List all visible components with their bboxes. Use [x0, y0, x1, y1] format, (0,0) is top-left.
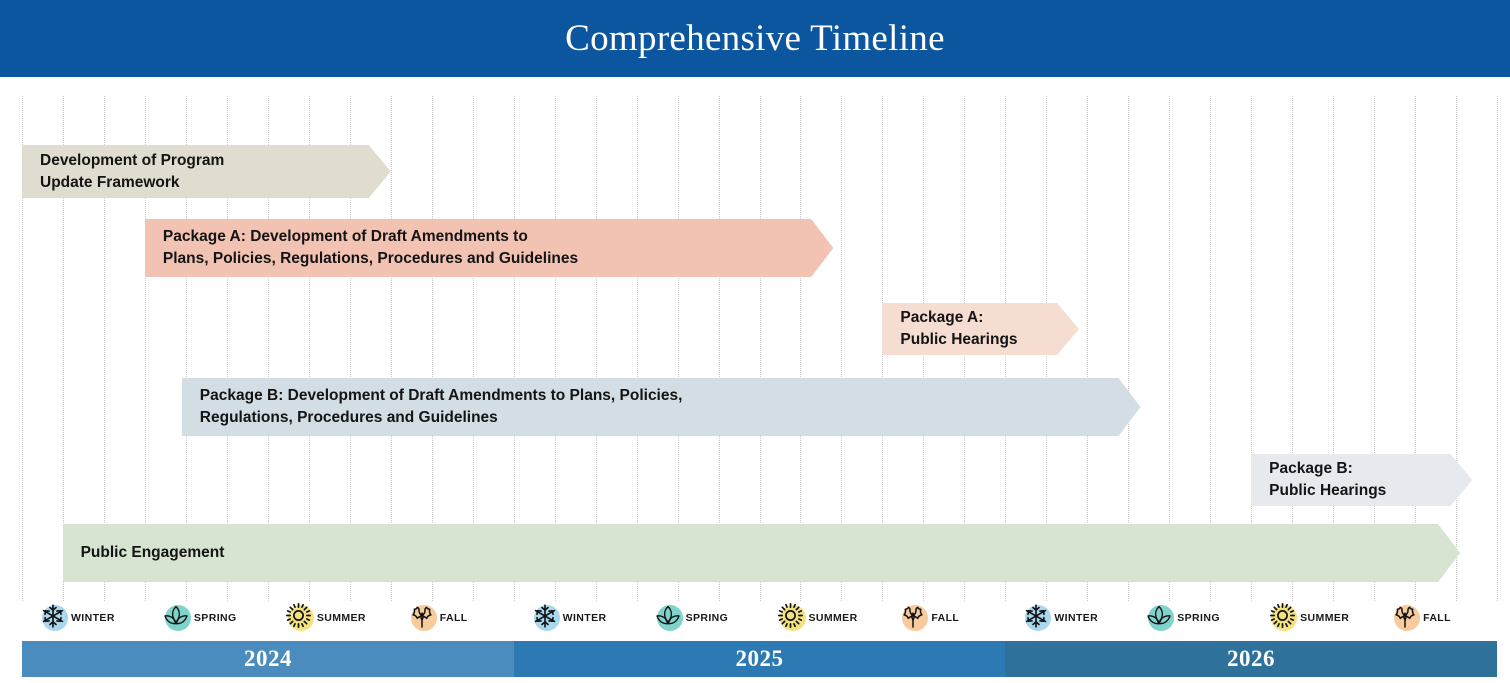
- sun-icon: [1265, 601, 1299, 635]
- lotus-leaves-icon: [159, 601, 193, 635]
- maple-leaf-icon: [405, 601, 439, 635]
- lotus-leaves-icon: [1142, 601, 1176, 635]
- timeline-task-bar[interactable]: Development of Program Update Framework: [22, 145, 391, 198]
- season-label: SPRING: [194, 612, 237, 624]
- maple-leaf-icon: [1388, 601, 1422, 635]
- lotus-leaves-icon-glyph: [161, 603, 191, 634]
- gridline: [1456, 96, 1457, 601]
- sun-icon: [774, 601, 808, 635]
- season-marker-spring: SPRING: [159, 597, 237, 639]
- season-axis: WINTER SPRING SUMMER FALL WINTER SPRING: [0, 597, 1510, 639]
- timeline-task-bar[interactable]: Public Engagement: [63, 524, 1461, 582]
- season-marker-fall: FALL: [896, 597, 959, 639]
- task-bar-label: Package B: Public Hearings: [1269, 458, 1386, 502]
- season-label: FALL: [1423, 612, 1451, 624]
- season-label: FALL: [931, 612, 959, 624]
- season-label: WINTER: [1054, 612, 1098, 624]
- season-marker-summer: SUMMER: [1265, 597, 1349, 639]
- season-marker-fall: FALL: [1388, 597, 1451, 639]
- season-marker-winter: WINTER: [36, 597, 115, 639]
- timeline-task-bar[interactable]: Package A: Development of Draft Amendmen…: [145, 219, 833, 277]
- snowflake-icon-glyph: [532, 603, 558, 634]
- maple-leaf-icon-glyph: [899, 602, 927, 634]
- maple-leaf-icon-glyph: [408, 602, 436, 634]
- sun-icon-glyph: [777, 602, 804, 634]
- season-marker-summer: SUMMER: [282, 597, 366, 639]
- season-label: WINTER: [563, 612, 607, 624]
- snowflake-icon: [528, 601, 562, 635]
- task-bar-label: Public Engagement: [81, 542, 225, 564]
- season-label: FALL: [440, 612, 468, 624]
- season-marker-winter: WINTER: [528, 597, 607, 639]
- snowflake-icon-glyph: [40, 603, 66, 634]
- year-label: 2024: [244, 646, 292, 672]
- maple-leaf-icon-glyph: [1391, 602, 1419, 634]
- timeline-task-bar[interactable]: Package B: Public Hearings: [1251, 454, 1472, 506]
- year-segment-2026: 2026: [1005, 641, 1497, 677]
- lotus-leaves-icon-glyph: [653, 603, 683, 634]
- season-marker-spring: SPRING: [1142, 597, 1220, 639]
- timeline-task-bar[interactable]: Package B: Development of Draft Amendmen…: [182, 378, 1141, 436]
- timeline-page: Comprehensive Timeline Development of Pr…: [0, 0, 1510, 683]
- page-title: Comprehensive Timeline: [565, 17, 945, 60]
- season-label: WINTER: [71, 612, 115, 624]
- season-label: SPRING: [1177, 612, 1220, 624]
- gridline: [1497, 96, 1498, 601]
- snowflake-icon: [1019, 601, 1053, 635]
- task-bar-label: Package B: Development of Draft Amendmen…: [200, 385, 683, 429]
- season-label: SUMMER: [317, 612, 366, 624]
- lotus-leaves-icon: [651, 601, 685, 635]
- season-marker-summer: SUMMER: [774, 597, 858, 639]
- snowflake-icon-glyph: [1023, 603, 1049, 634]
- season-marker-winter: WINTER: [1019, 597, 1098, 639]
- year-label: 2025: [736, 646, 784, 672]
- snowflake-icon: [36, 601, 70, 635]
- task-bar-label: Package A: Development of Draft Amendmen…: [163, 226, 578, 270]
- sun-icon: [282, 601, 316, 635]
- lotus-leaves-icon-glyph: [1144, 603, 1174, 634]
- season-marker-fall: FALL: [405, 597, 468, 639]
- task-bar-label: Package A: Public Hearings: [900, 307, 1017, 351]
- timeline-task-bar[interactable]: Package A: Public Hearings: [882, 303, 1079, 355]
- year-segment-2025: 2025: [514, 641, 1005, 677]
- timeline-plot-area: Development of Program Update FrameworkP…: [0, 88, 1510, 600]
- task-bar-label: Development of Program Update Framework: [40, 150, 224, 194]
- season-marker-spring: SPRING: [651, 597, 729, 639]
- year-segment-2024: 2024: [22, 641, 514, 677]
- season-label: SPRING: [686, 612, 729, 624]
- sun-icon-glyph: [1269, 602, 1296, 634]
- header-banner: Comprehensive Timeline: [0, 0, 1510, 77]
- year-label: 2026: [1227, 646, 1275, 672]
- season-label: SUMMER: [1300, 612, 1349, 624]
- year-axis: 202420252026: [22, 641, 1497, 677]
- sun-icon-glyph: [285, 602, 312, 634]
- maple-leaf-icon: [896, 601, 930, 635]
- season-label: SUMMER: [809, 612, 858, 624]
